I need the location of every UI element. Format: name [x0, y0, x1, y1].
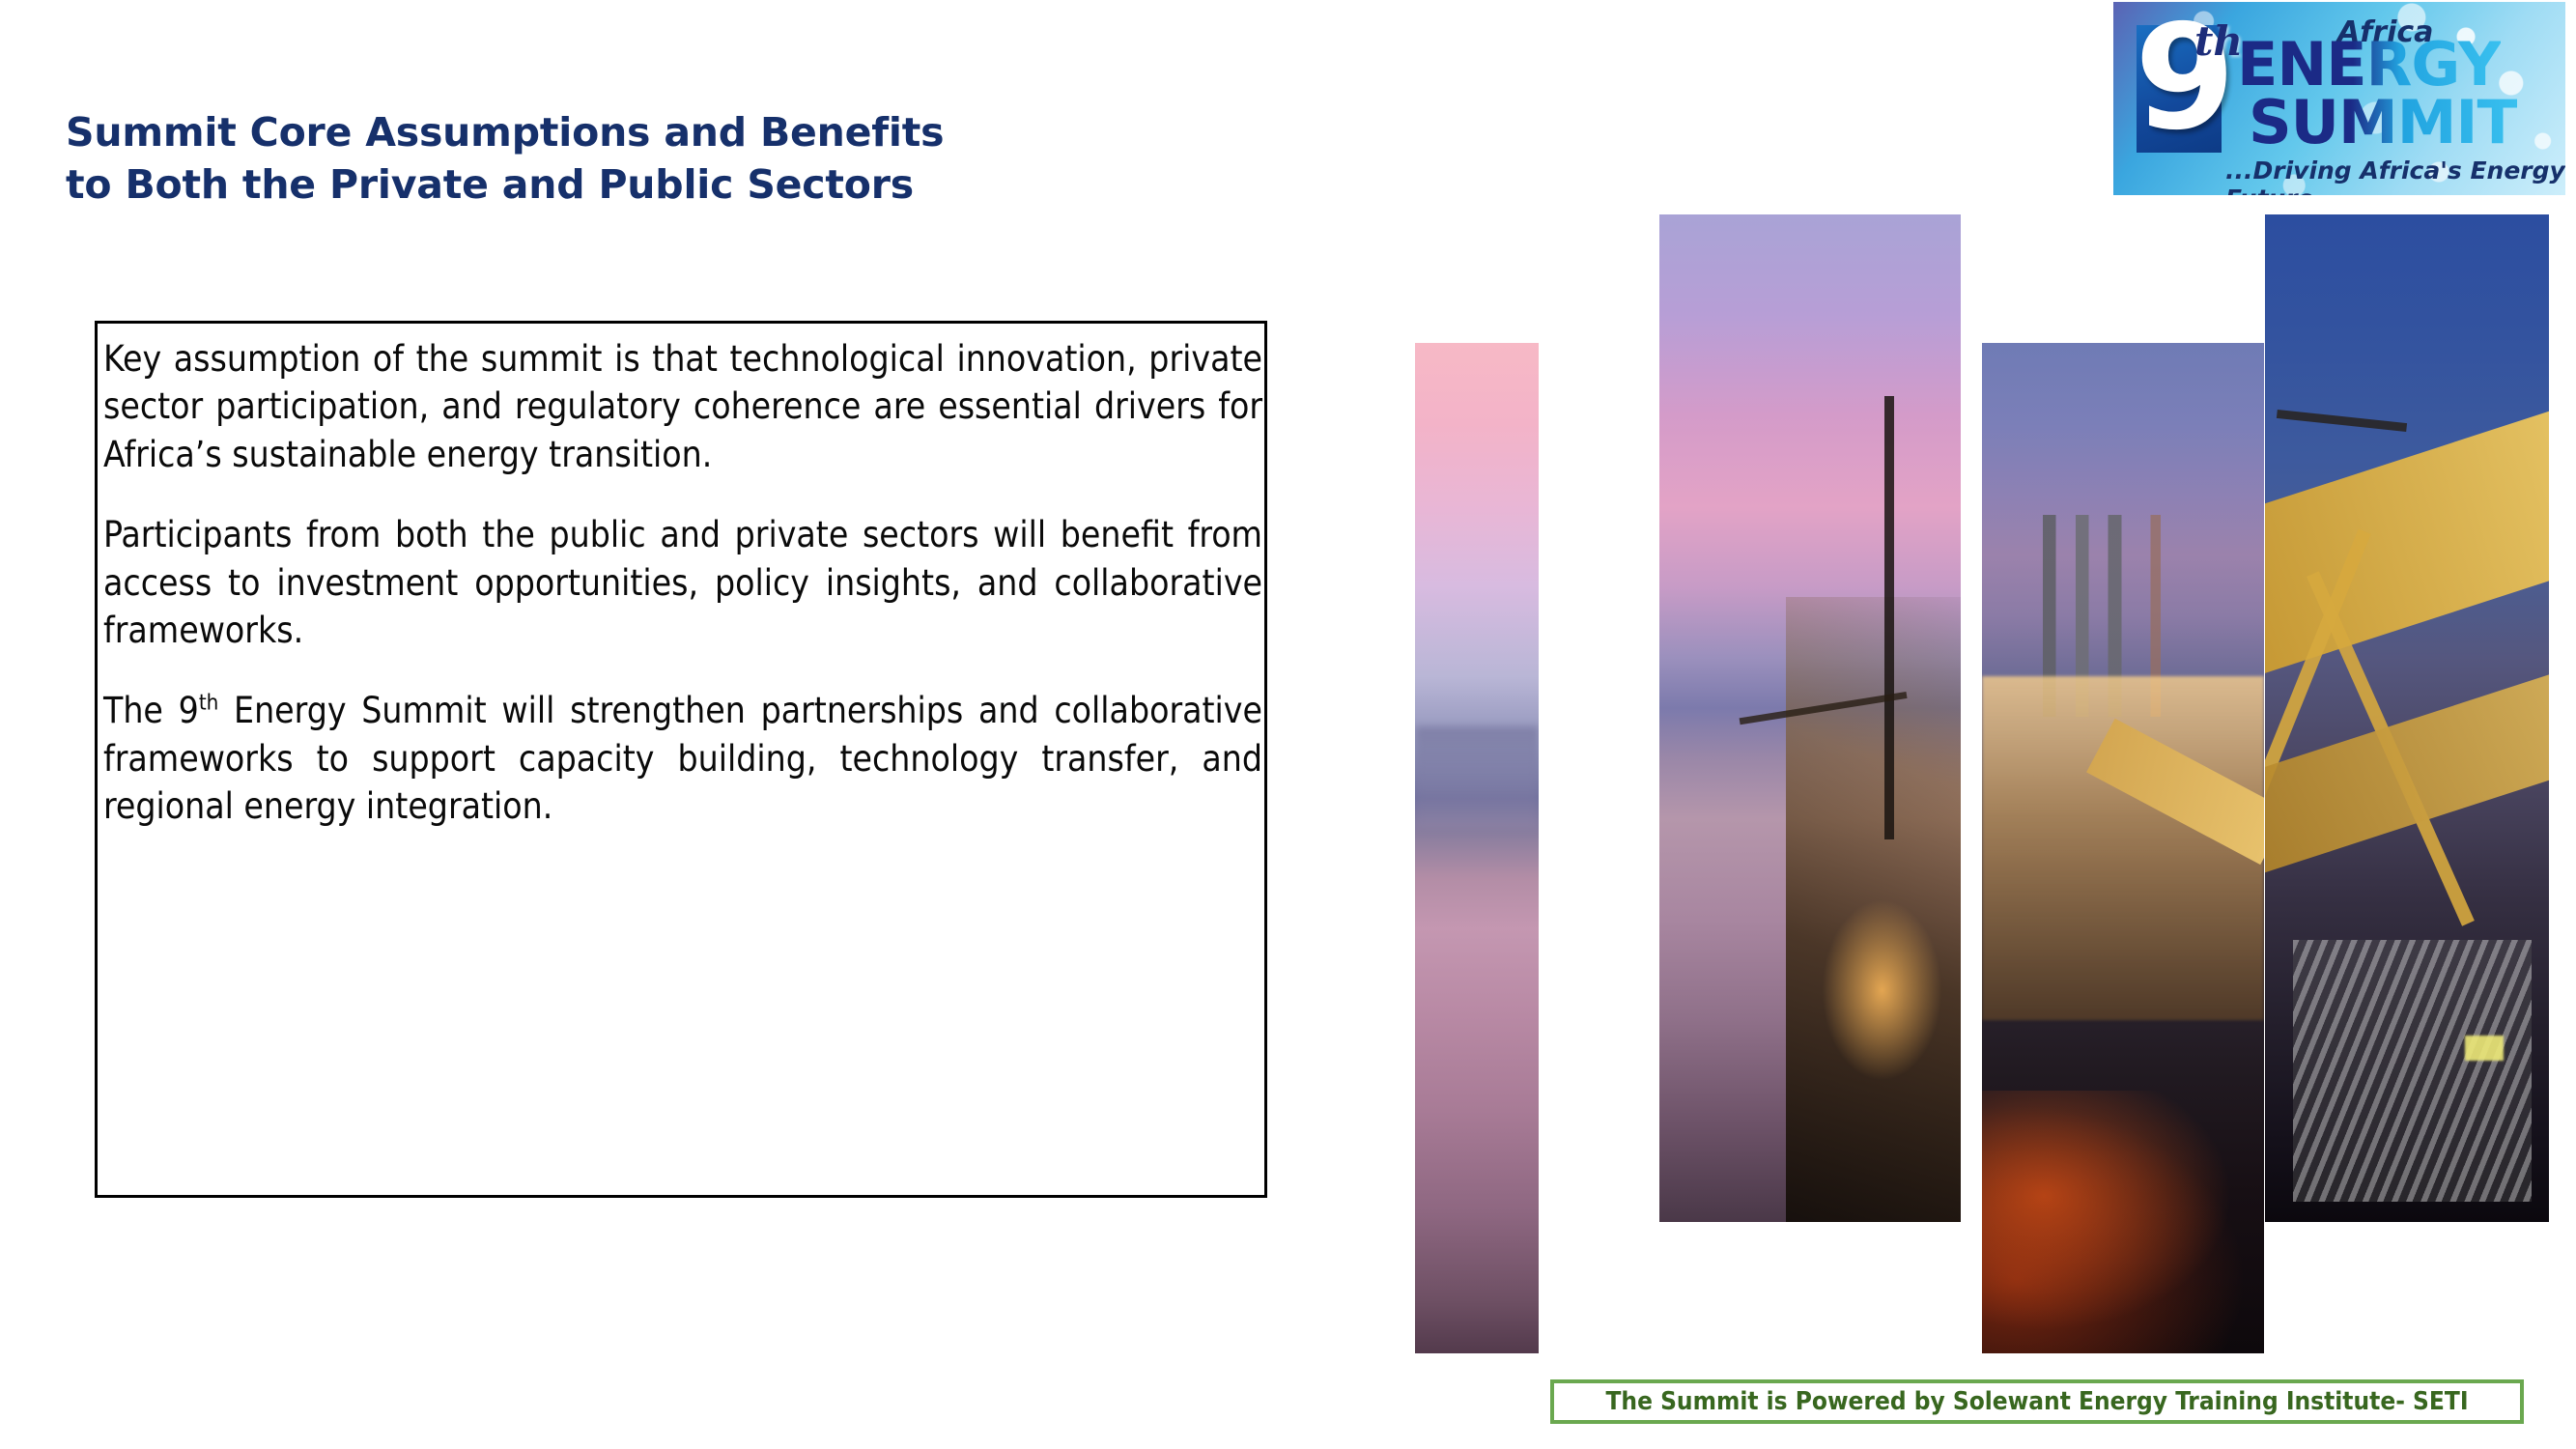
page-title-line-2: to Both the Private and Public Sectors: [66, 158, 1273, 211]
collage-panel-lit-production-platform: [1982, 343, 2264, 1353]
body-text-box: Key assumption of the summit is that tec…: [95, 321, 1267, 1198]
logo-word-energy: ENERGY: [2237, 37, 2501, 93]
page-title: Summit Core Assumptions and Benefits to …: [66, 106, 1273, 211]
paragraph-3-prefix: The 9: [103, 690, 199, 731]
bridge-lamp-glow: [2465, 1036, 2504, 1061]
page-title-line-1: Summit Core Assumptions and Benefits: [66, 106, 1273, 158]
paragraph-3: The 9th Energy Summit will strengthen pa…: [103, 687, 1262, 830]
paragraph-3-suffix: Energy Summit will strengthen partnershi…: [103, 690, 1262, 827]
summit-logo: 9 th Africa ENERGY SUMMIT ...Driving Afr…: [2113, 2, 2565, 195]
collage-panel-yellow-steel-bridge: [2265, 214, 2549, 1222]
logo-ordinal-suffix: th: [2194, 17, 2243, 65]
ordinal-superscript: th: [199, 691, 218, 716]
collage-panel-offshore-rig-crane: [1659, 214, 1961, 1222]
logo-tagline: ...Driving Africa's Energy Future: [2225, 156, 2565, 195]
sponsor-banner-text: The Summit is Powered by Solewant Energy…: [1605, 1387, 2468, 1416]
paragraph-1: Key assumption of the summit is that tec…: [103, 335, 1262, 478]
bridge-stairs-shape: [2293, 940, 2532, 1202]
paragraph-2: Participants from both the public and pr…: [103, 511, 1262, 654]
bridge-crane-arm-shape: [2277, 410, 2407, 432]
logo-word-summit: SUMMIT: [2249, 95, 2517, 151]
bridge-truss-lower-shape: [2265, 668, 2549, 877]
rig-light-glow: [1822, 899, 1942, 1081]
sponsor-banner: The Summit is Powered by Solewant Energy…: [1550, 1379, 2524, 1424]
rig-tower-shape: [1884, 396, 1894, 839]
collage-panel-ocean-at-dusk: [1415, 343, 1539, 1353]
bridge-truss-upper-shape: [2265, 407, 2549, 674]
body-text-content: Key assumption of the summit is that tec…: [103, 335, 1262, 831]
platform-ember-glow: [1982, 1091, 2264, 1353]
